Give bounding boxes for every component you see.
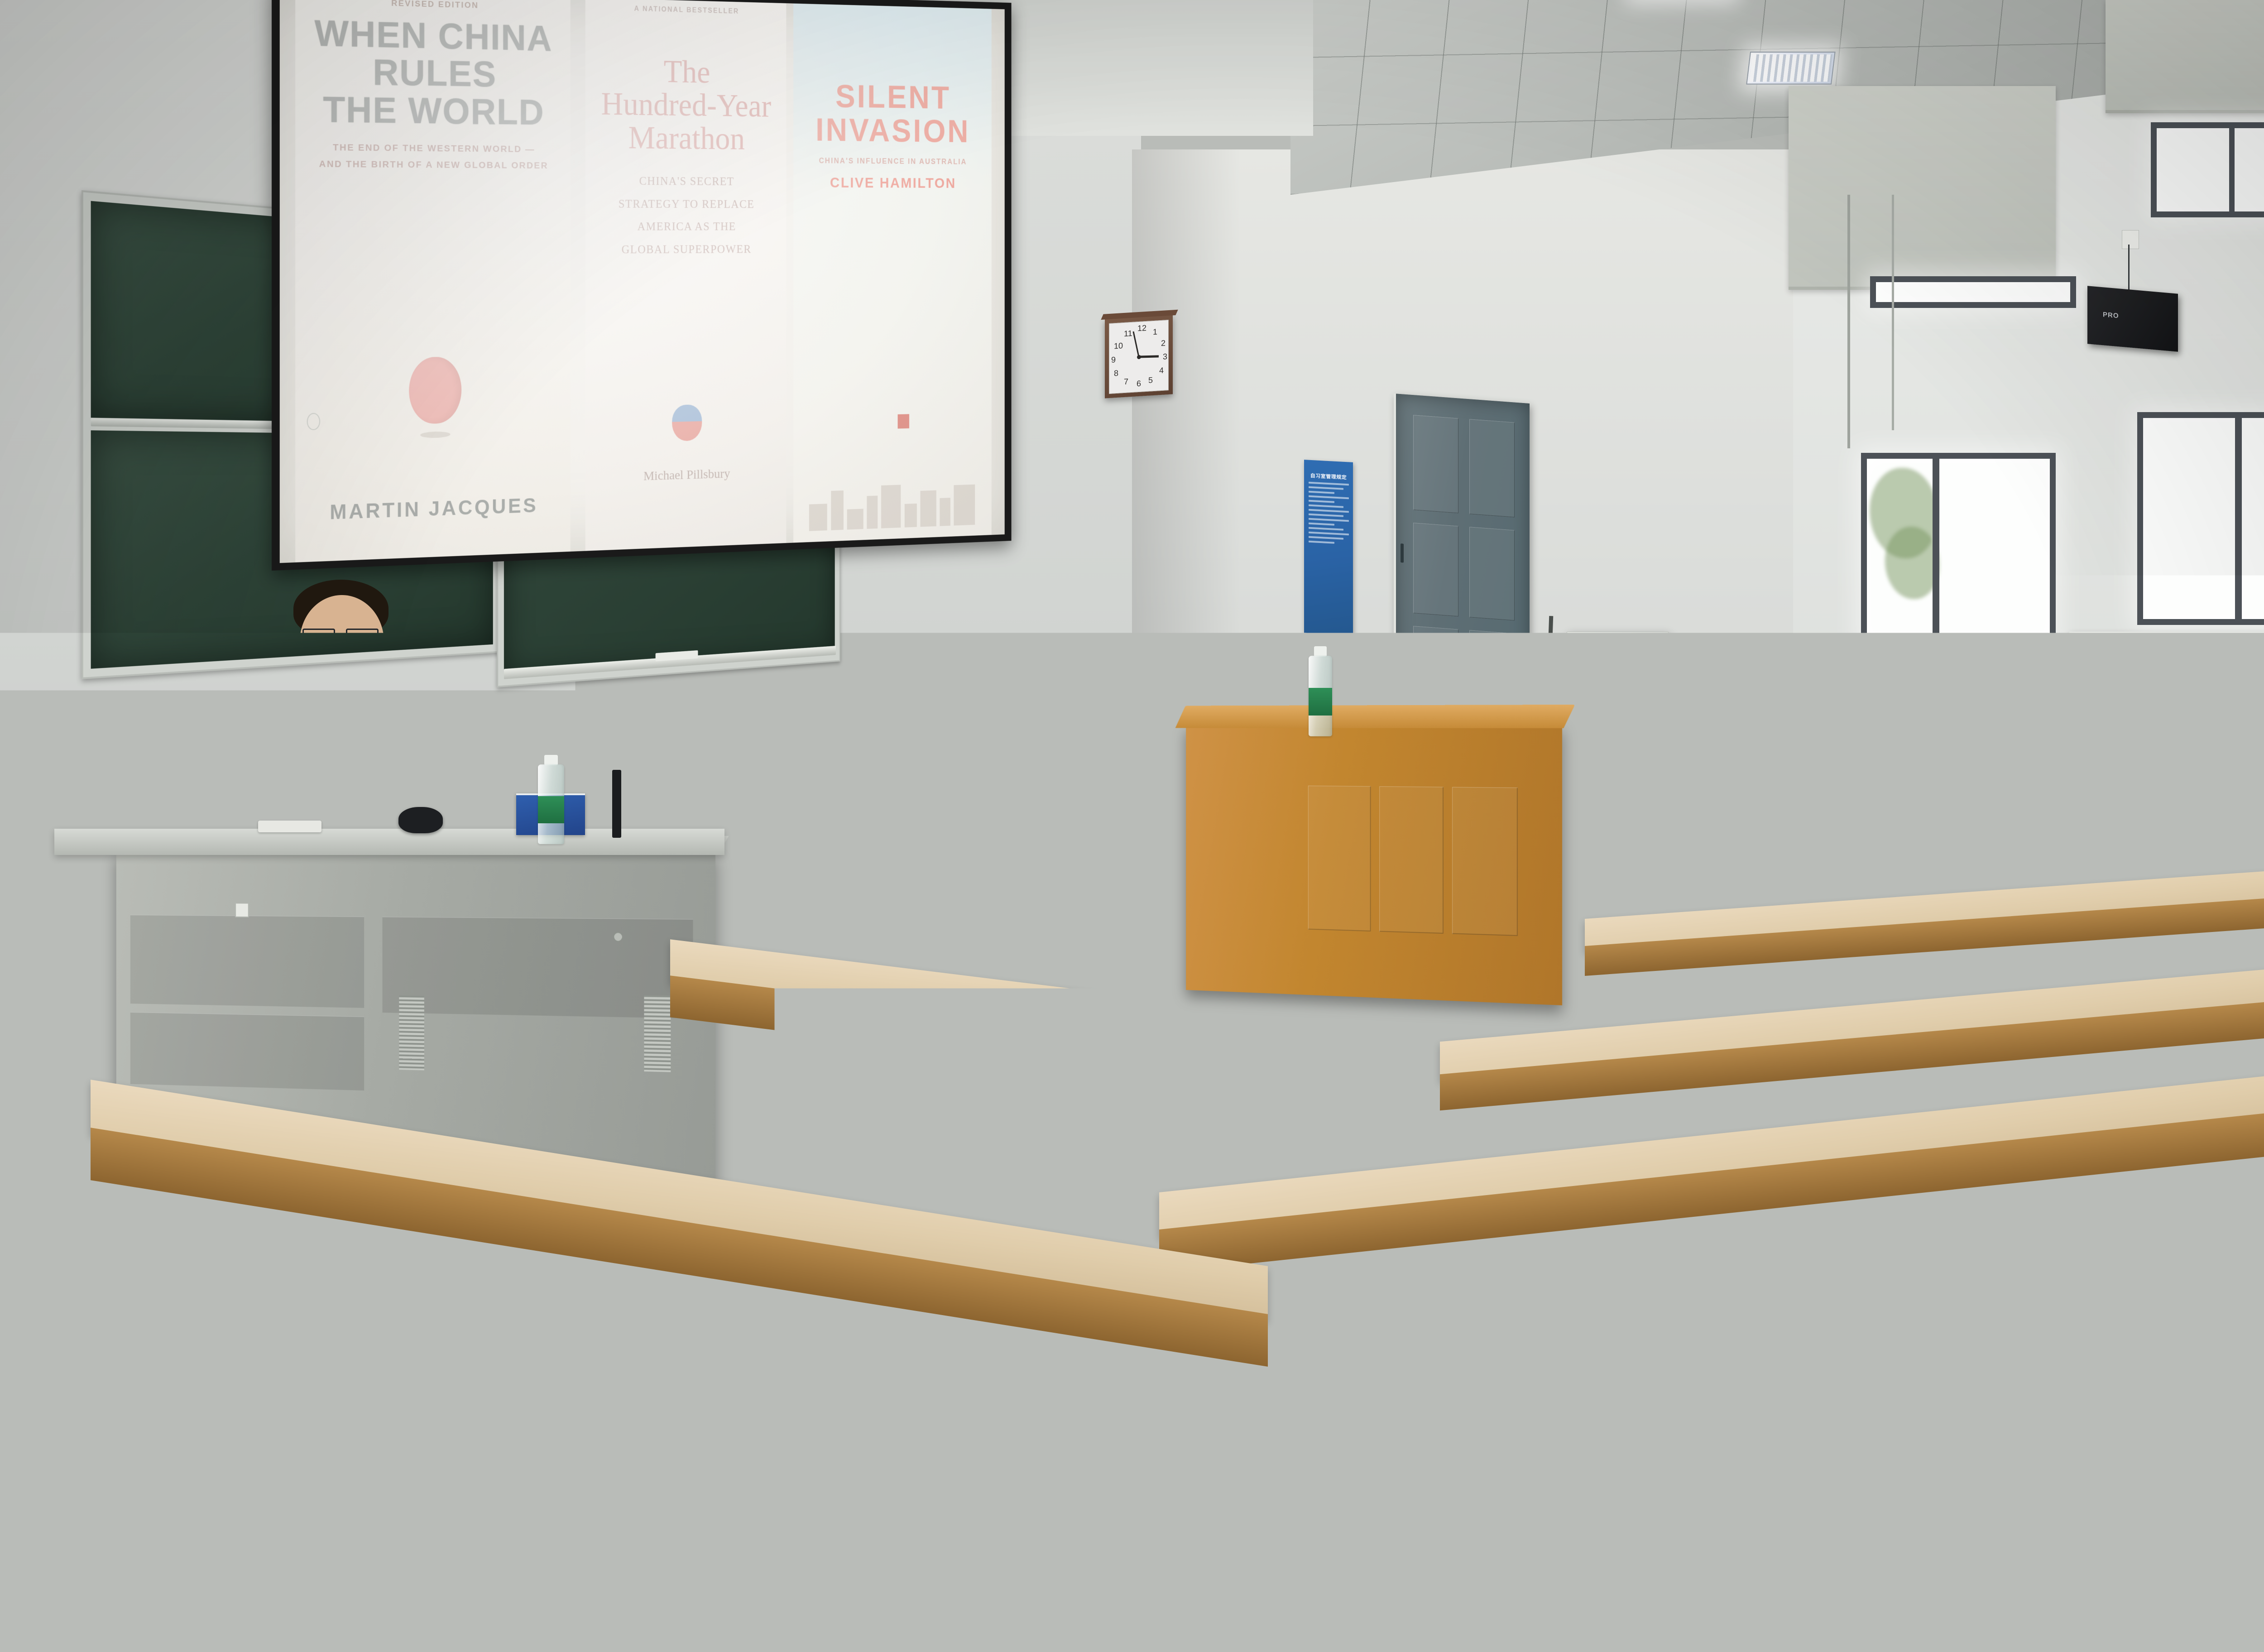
globe-stand-icon <box>420 431 451 438</box>
wall-speaker-brand: PRO <box>2103 311 2119 320</box>
microphone-capsule <box>312 687 321 703</box>
book1-subtitle-line-1: THE END OF THE WESTERN WORLD — <box>296 139 571 158</box>
projection-screen: REVISED EDITION WHEN CHINA RULES THE WOR… <box>272 0 1012 571</box>
door-handle[interactable] <box>1401 543 1404 563</box>
book3-title-line-1: SILENT <box>793 79 991 115</box>
audience-member <box>1793 1159 2029 1621</box>
city-skyline-icon <box>806 480 983 531</box>
wall-socket <box>2122 230 2139 249</box>
ac-control-panel[interactable] <box>1581 701 1635 716</box>
blind-pull-cord[interactable] <box>1847 195 1850 448</box>
book2-title-line-3: Marathon <box>585 121 786 156</box>
ac-display <box>1595 704 1621 713</box>
audience-member <box>2173 915 2264 1214</box>
clock-numeral: 7 <box>1124 377 1128 387</box>
book2-subtitle-line-1: CHINA'S SECRET <box>585 169 786 192</box>
clerestory-window <box>1870 276 2076 308</box>
book-cover-the-hundred-year-marathon: A NATIONAL BESTSELLER The Hundred-Year M… <box>585 0 786 551</box>
audience-member <box>1748 924 1875 1196</box>
microphone-stand <box>612 770 621 838</box>
water-bottle[interactable] <box>1309 656 1332 736</box>
book1-title-line-2: RULES <box>296 53 571 94</box>
clock-center-pin <box>1137 355 1141 360</box>
main-window-right <box>2137 412 2264 625</box>
clock-numeral: 6 <box>1137 379 1141 389</box>
lecturer-mouth <box>329 656 355 662</box>
book2-top-line: A NATIONAL BESTSELLER <box>585 4 786 17</box>
main-window-left <box>1861 453 2056 648</box>
book2-subtitle-line-4: GLOBAL SUPERPOWER <box>585 238 786 261</box>
audience-member <box>0 1349 217 1652</box>
cabinet-label <box>235 903 249 917</box>
audience-member <box>1494 883 1607 1128</box>
clock-numeral: 4 <box>1159 366 1164 376</box>
book-cover-silent-invasion: SILENT INVASION CHINA'S INFLUENCE IN AUS… <box>793 4 991 543</box>
book2-subtitle-line-2: STRATEGY TO REPLACE <box>585 192 786 215</box>
water-bottle[interactable] <box>538 764 564 844</box>
clock-numeral: 10 <box>1114 341 1123 351</box>
entrance-sign-text: 入口 <box>1354 654 1395 686</box>
audience-member <box>1748 743 1838 933</box>
window-blind[interactable] <box>1789 86 2056 290</box>
clock-hour-hand <box>1139 355 1159 358</box>
speaker-cable <box>2128 245 2130 293</box>
clock-numeral: 9 <box>1111 355 1116 365</box>
entrance-sign: 入口 <box>1349 650 1399 689</box>
clock-numeral: 1 <box>1153 327 1157 337</box>
book1-title-line-1: WHEN CHINA <box>296 15 571 57</box>
book1-title-line-3: THE WORLD <box>296 91 571 131</box>
globe-icon <box>409 356 461 424</box>
cabinet-lock[interactable] <box>613 932 623 942</box>
notice-board-title: 自习室管理规定 <box>1308 472 1349 481</box>
wall-speaker: PRO <box>2087 286 2178 351</box>
penguin-logo-icon <box>307 413 320 430</box>
notice-board: 自习室管理规定 <box>1304 460 1353 635</box>
clock-numeral: 11 <box>1124 329 1132 339</box>
clock-numeral: 2 <box>1161 338 1166 348</box>
lecturer-glasses <box>302 629 383 648</box>
eyeglasses <box>1386 1155 1436 1180</box>
denim-jacket <box>412 1417 643 1612</box>
lecturer <box>245 580 480 869</box>
clock-face: 12 1 2 3 4 5 6 7 8 9 10 11 <box>1109 320 1169 394</box>
eyeglasses <box>1811 992 1847 1010</box>
lecturer-collar-gap <box>339 670 360 720</box>
audience-member <box>1295 1060 1476 1458</box>
audience-member <box>2024 924 2160 1214</box>
lecture-hall-photo: REVISED EDITION WHEN CHINA RULES THE WOR… <box>0 0 2264 1652</box>
audience-member <box>1503 1123 1739 1576</box>
clock-numeral: 3 <box>1163 352 1167 362</box>
book2-author: Michael Pillsbury <box>585 465 786 485</box>
wall-clock: 12 1 2 3 4 5 6 7 8 9 10 11 <box>1105 315 1173 398</box>
water-bottle[interactable] <box>643 1381 676 1479</box>
lecturer-nameplate <box>322 829 393 870</box>
audience-member <box>2065 1349 2264 1652</box>
book1-subtitle-line-2: AND THE BIRTH OF A NEW GLOBAL ORDER <box>296 156 571 174</box>
window-blind[interactable] <box>2106 0 2264 113</box>
book1-author: MARTIN JACQUES <box>296 492 571 525</box>
audience-member <box>643 1467 924 1652</box>
book1-top-line: REVISED EDITION <box>296 0 571 13</box>
jacket-lettering <box>475 1526 643 1576</box>
lecturer-hand <box>393 706 458 740</box>
ceiling-light-fixture <box>1746 52 1835 85</box>
red-flag-icon <box>897 414 909 428</box>
ac-upper-vent <box>1573 639 1657 685</box>
book2-subtitle-line-3: AMERICA AS THE <box>585 215 786 238</box>
clock-numeral: 12 <box>1137 323 1146 333</box>
classroom-door[interactable] <box>1394 394 1530 739</box>
clock-numeral: 8 <box>1114 369 1118 379</box>
clock-minute-hand <box>1132 331 1139 357</box>
upper-window-left <box>2151 122 2264 217</box>
projected-slide: REVISED EDITION WHEN CHINA RULES THE WOR… <box>280 0 1005 563</box>
microphone-base <box>136 840 186 859</box>
lecturer-wristwatch <box>374 724 396 744</box>
book3-author: CLIVE HAMILTON <box>793 174 991 192</box>
clock-numeral: 5 <box>1148 375 1153 385</box>
blind-pull-cord[interactable] <box>1892 195 1894 430</box>
book3-title-line-2: INVASION <box>793 113 991 148</box>
audience-member <box>1843 752 1938 946</box>
audience-member-denim-jacket <box>263 1313 643 1652</box>
audience-member <box>969 1078 1150 1467</box>
book2-title-line-1: The <box>585 53 786 91</box>
book-cover-when-china-rules-the-world: REVISED EDITION WHEN CHINA RULES THE WOR… <box>296 0 571 562</box>
audience-member <box>444 996 607 1340</box>
book3-subtitle: CHINA'S INFLUENCE IN AUSTRALIA <box>793 156 991 167</box>
flag-emblem-icon <box>672 404 702 442</box>
blue-folder[interactable] <box>0 1223 95 1309</box>
book2-title-line-2: Hundred-Year <box>585 87 786 123</box>
backpack[interactable] <box>706 1268 987 1467</box>
